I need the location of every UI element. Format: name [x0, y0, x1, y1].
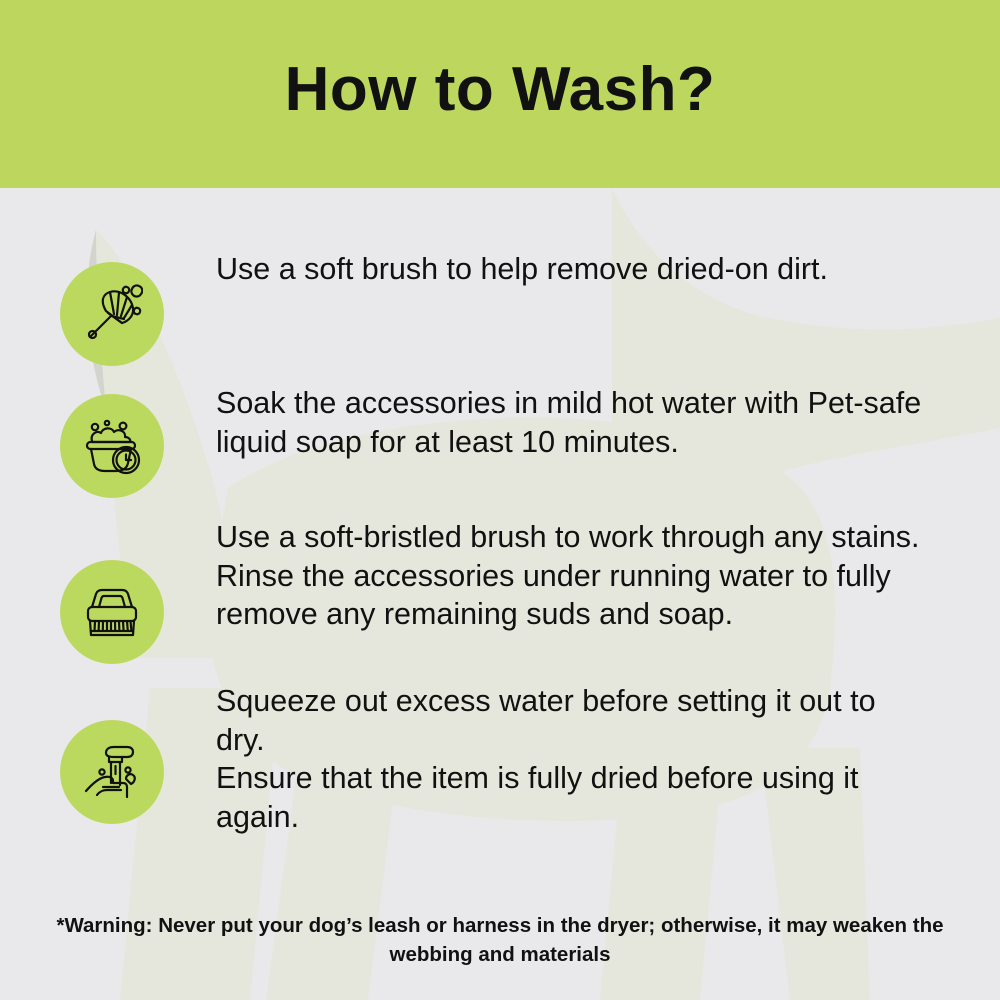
header-band: How to Wash?	[0, 0, 1000, 188]
how-to-wash-infographic: How to Wash?	[0, 0, 1000, 1000]
hand-squeezing-water-icon	[60, 720, 164, 824]
warning-note: *Warning: Never put your dog’s leash or …	[0, 911, 1000, 970]
step-text: Squeeze out excess water before setting …	[216, 682, 1000, 837]
step-item: Use a soft brush to help remove dried-on…	[0, 250, 1000, 366]
step-text: Use a soft-bristled brush to work throug…	[216, 518, 1000, 634]
step-text: Soak the accessories in mild hot water w…	[216, 384, 1000, 461]
wash-basin-clock-icon	[60, 394, 164, 498]
steps-list: Use a soft brush to help remove dried-on…	[0, 188, 1000, 859]
step-item: Squeeze out excess water before setting …	[0, 682, 1000, 837]
step-item: Use a soft-bristled brush to work throug…	[0, 518, 1000, 664]
step-item: Soak the accessories in mild hot water w…	[0, 384, 1000, 498]
feather-duster-icon	[60, 262, 164, 366]
scrub-brush-icon	[60, 560, 164, 664]
step-text: Use a soft brush to help remove dried-on…	[216, 250, 1000, 289]
page-title: How to Wash?	[285, 59, 716, 129]
